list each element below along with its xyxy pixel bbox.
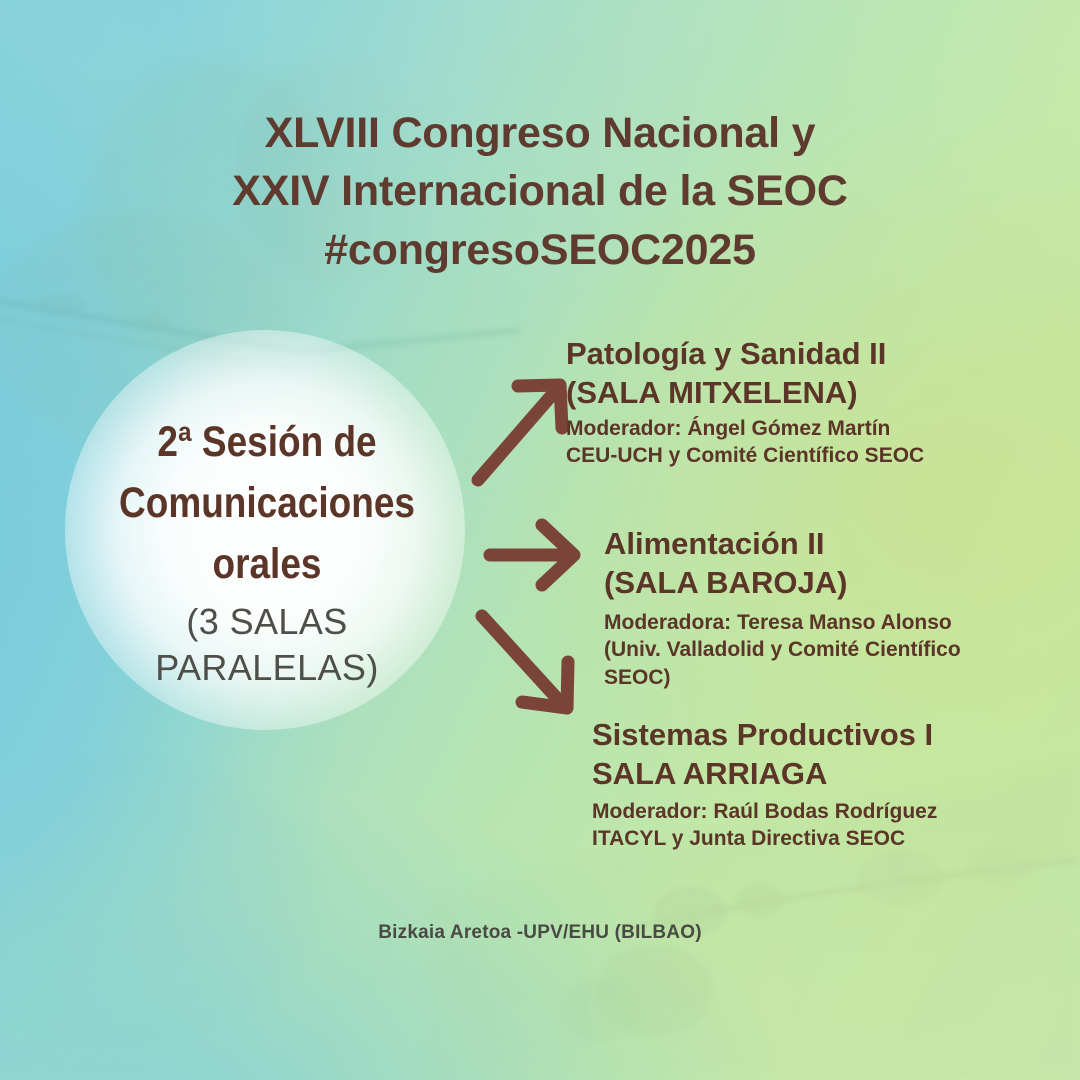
session-1-moderator-line-2: CEU-UCH y Comité Científico SEOC: [566, 442, 986, 470]
session-1-moderator: Moderador: Ángel Gómez Martín CEU-UCH y …: [566, 415, 986, 470]
session-circle-line-1: 2ª Sesión de: [91, 412, 444, 473]
title-line-2: XXIV Internacional de la SEOC: [0, 162, 1080, 220]
session-3-room: SALA ARRIAGA: [592, 754, 1002, 793]
session-circle-line-3: orales: [91, 534, 444, 595]
arrow-down-right-icon: [470, 604, 590, 724]
title-line-3: #congresoSEOC2025: [0, 221, 1080, 279]
session-circle-line-2: Comunicaciones: [91, 473, 444, 534]
title-line-1: XLVIII Congreso Nacional y: [0, 104, 1080, 162]
poster-canvas: XLVIII Congreso Nacional y XXIV Internac…: [0, 0, 1080, 1080]
session-circle-block: 2ª Sesión de Comunicaciones orales (3 SA…: [62, 412, 472, 690]
session-circle-sub-line-2: PARALELAS): [62, 645, 472, 690]
content-layer: XLVIII Congreso Nacional y XXIV Internac…: [0, 0, 1080, 1080]
arrow-right-icon: [482, 516, 586, 594]
session-3-title: Sistemas Productivos I: [592, 715, 1002, 754]
session-2-room: (SALA BAROJA): [604, 563, 1004, 602]
session-3-moderator-line-1: Moderador: Raúl Bodas Rodríguez: [592, 798, 1002, 826]
session-2-moderator-line-2: (Univ. Valladolid y Comité Científico: [604, 636, 1004, 664]
session-2-title: Alimentación II: [604, 524, 1004, 563]
session-block-alimentacion: Alimentación II (SALA BAROJA) Moderadora…: [604, 524, 1004, 692]
session-3-moderator: Moderador: Raúl Bodas Rodríguez ITACYL y…: [592, 798, 1002, 853]
session-block-patologia: Patología y Sanidad II (SALA MITXELENA) …: [566, 334, 986, 470]
session-3-moderator-line-2: ITACYL y Junta Directiva SEOC: [592, 825, 1002, 853]
session-circle-sub-line-1: (3 SALAS: [62, 599, 472, 644]
poster-title: XLVIII Congreso Nacional y XXIV Internac…: [0, 104, 1080, 279]
session-1-title: Patología y Sanidad II: [566, 334, 986, 373]
session-2-moderator-line-3: SEOC): [604, 664, 1004, 692]
session-circle-heading: 2ª Sesión de Comunicaciones orales: [91, 412, 444, 595]
session-block-sistemas: Sistemas Productivos I SALA ARRIAGA Mode…: [592, 715, 1002, 853]
session-2-moderator-line-1: Moderadora: Teresa Manso Alonso: [604, 609, 1004, 637]
session-1-moderator-line-1: Moderador: Ángel Gómez Martín: [566, 415, 986, 443]
venue-label: Bizkaia Aretoa -UPV/EHU (BILBAO): [0, 922, 1080, 944]
session-circle-subheading: (3 SALAS PARALELAS): [62, 599, 472, 690]
session-2-moderator: Moderadora: Teresa Manso Alonso (Univ. V…: [604, 609, 1004, 692]
session-1-room: (SALA MITXELENA): [566, 373, 986, 412]
